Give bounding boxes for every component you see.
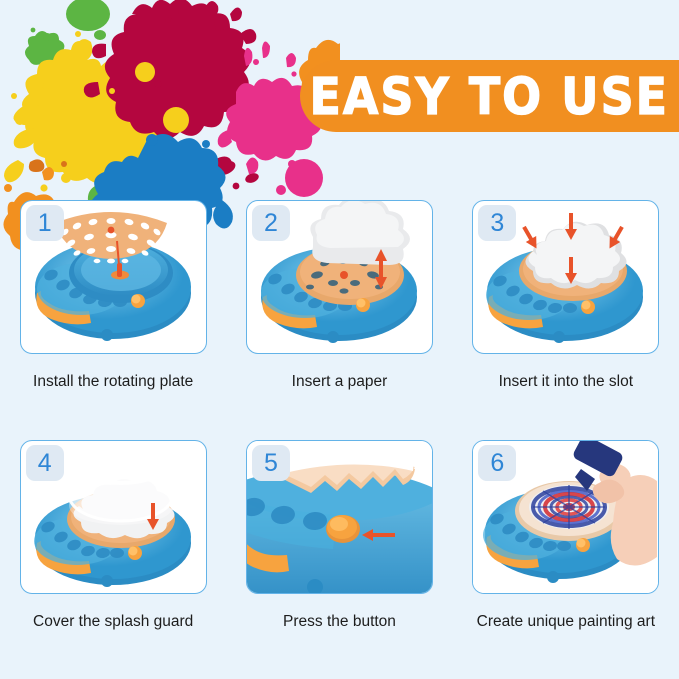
paper-sheet bbox=[526, 222, 627, 289]
step-4-caption: Cover the splash guard bbox=[33, 613, 193, 632]
step-6-caption: Create unique painting art bbox=[477, 613, 655, 632]
splash-guard bbox=[69, 443, 173, 525]
step-1-badge: 1 bbox=[26, 205, 64, 241]
step-3: 3 bbox=[453, 200, 679, 440]
step-2: 2 bbox=[226, 200, 452, 440]
step-2-caption: Insert a paper bbox=[292, 373, 388, 392]
step-2-card: 2 bbox=[246, 200, 433, 354]
banner-title: EASY TO USE bbox=[310, 71, 670, 121]
step-6-badge: 6 bbox=[478, 445, 516, 481]
steps-grid: 1 bbox=[0, 200, 679, 679]
step-5-caption: Press the button bbox=[283, 613, 396, 632]
step-3-badge: 3 bbox=[478, 205, 516, 241]
step-6: 6 bbox=[453, 440, 679, 679]
paper-sheet bbox=[310, 201, 410, 265]
step-4: 4 bbox=[0, 440, 226, 679]
step-4-badge: 4 bbox=[26, 445, 64, 481]
step-5-card: 5 bbox=[246, 440, 433, 594]
step-6-card: 6 bbox=[472, 440, 659, 594]
step-1-card: 1 bbox=[20, 200, 207, 354]
step-1-caption: Install the rotating plate bbox=[33, 373, 193, 392]
splatter-green-group bbox=[25, 0, 207, 220]
splatter-yellow-group bbox=[4, 31, 178, 213]
step-4-card: 4 bbox=[20, 440, 207, 594]
step-5-badge: 5 bbox=[252, 445, 290, 481]
step-1: 1 bbox=[0, 200, 226, 440]
easy-to-use-banner: EASY TO USE bbox=[300, 60, 679, 132]
infographic-stage: EASY TO USE 1 bbox=[0, 0, 679, 679]
splatter-crimson-group bbox=[84, 0, 260, 189]
step-3-caption: Insert it into the slot bbox=[499, 373, 633, 392]
step-2-badge: 2 bbox=[252, 205, 290, 241]
step-5: 5 bbox=[226, 440, 452, 679]
step-3-card: 3 bbox=[472, 200, 659, 354]
